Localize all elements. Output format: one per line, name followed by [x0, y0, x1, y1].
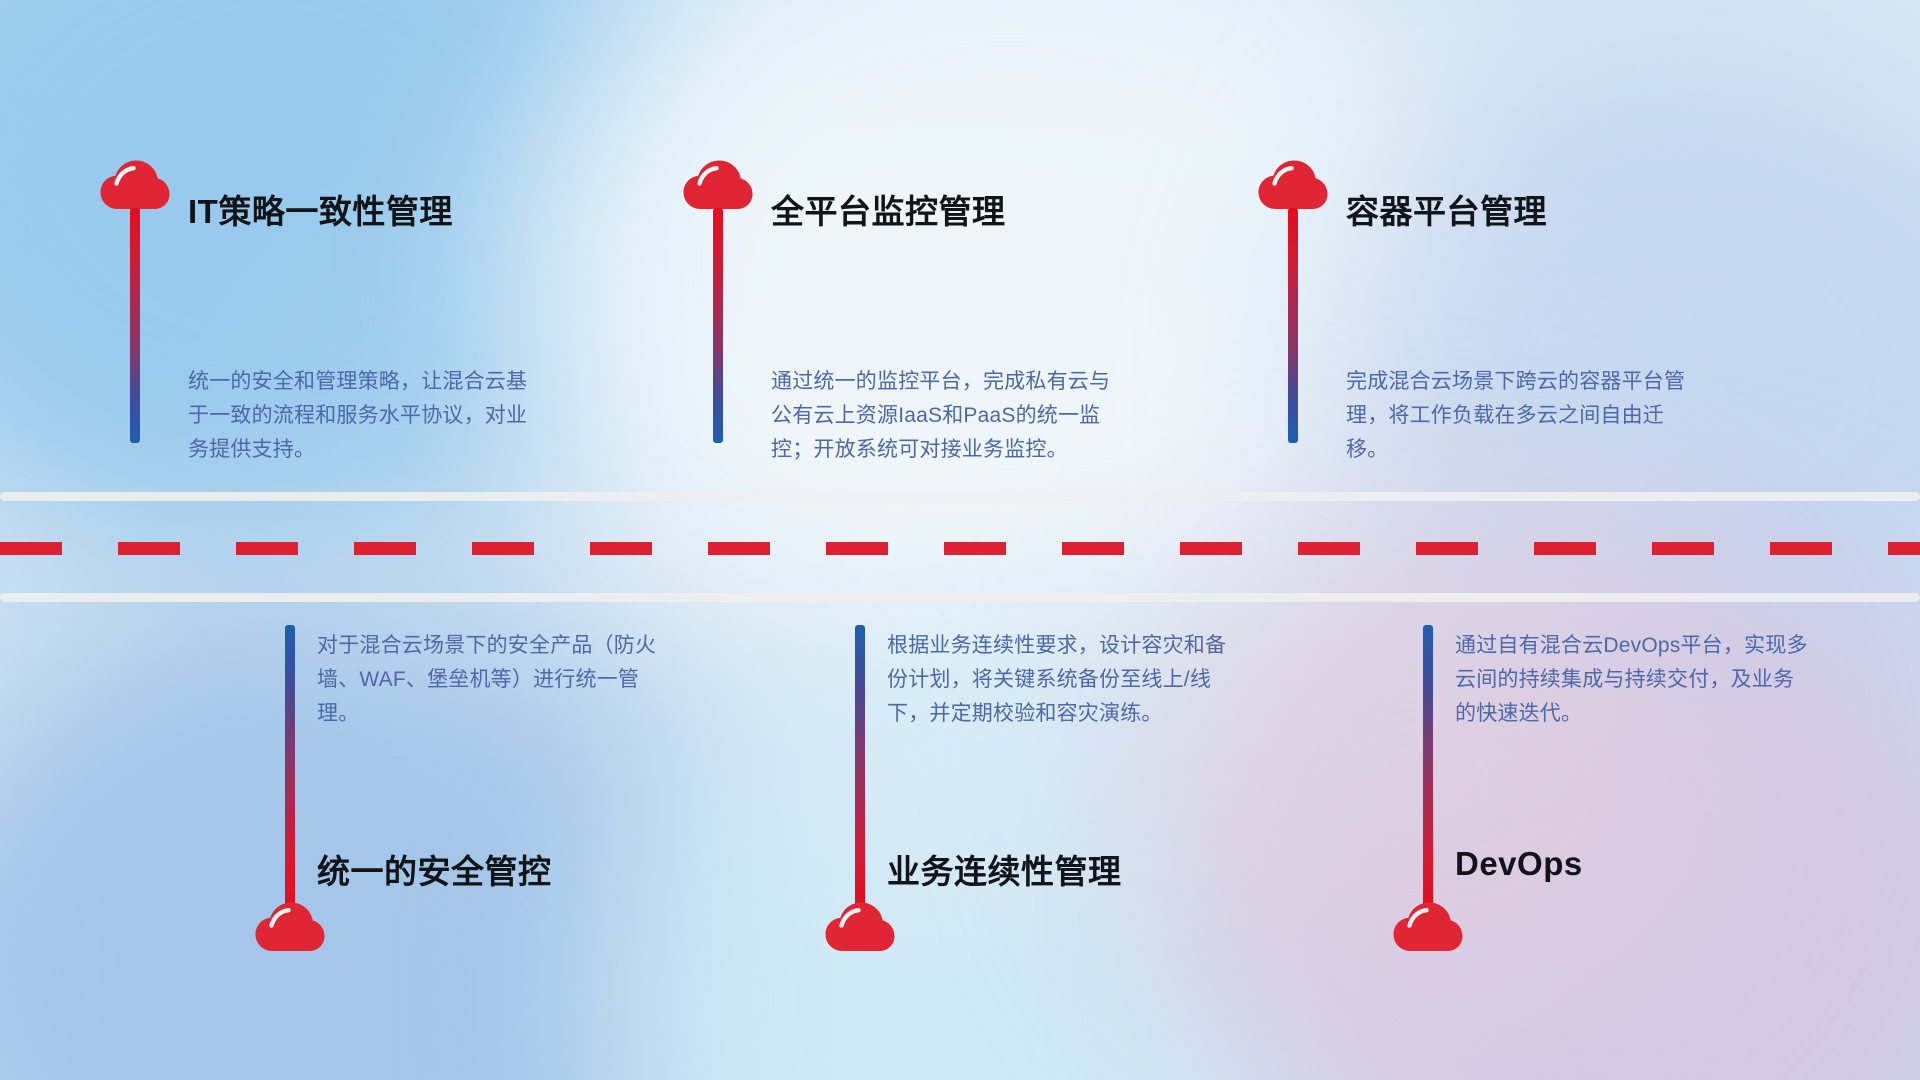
- pin-stem: [1423, 625, 1433, 910]
- card-title: 统一的安全管控: [317, 845, 552, 893]
- card-title: DevOps: [1455, 845, 1583, 883]
- road-center-dashes: [0, 542, 1920, 555]
- road-edge-top: [0, 492, 1920, 501]
- road-divider: [0, 492, 1920, 602]
- cloud-icon: [1258, 160, 1328, 212]
- card-title: 全平台监控管理: [771, 185, 1006, 233]
- cloud-icon: [100, 160, 170, 212]
- card-description: 对于混合云场景下的安全产品（防火墙、WAF、堡垒机等）进行统一管理。: [317, 629, 672, 731]
- cloud-icon: [683, 160, 753, 212]
- road-edge-bottom: [0, 593, 1920, 602]
- pin-stem: [713, 208, 723, 443]
- card-title: 业务连续性管理: [887, 845, 1122, 893]
- card-title: 容器平台管理: [1346, 185, 1547, 233]
- pin-stem: [130, 208, 140, 443]
- card-description: 通过自有混合云DevOps平台，实现多云间的持续集成与持续交付，及业务的快速迭代…: [1455, 629, 1810, 731]
- card-description: 完成混合云场景下跨云的容器平台管理，将工作负载在多云之间自由迁移。: [1346, 365, 1701, 467]
- infographic-canvas: IT策略一致性管理 统一的安全和管理策略，让混合云基于一致的流程和服务水平协议，…: [0, 0, 1920, 1080]
- card-title: IT策略一致性管理: [188, 185, 453, 233]
- card-description: 通过统一的监控平台，完成私有云与公有云上资源IaaS和PaaS的统一监控；开放系…: [771, 365, 1126, 467]
- pin-stem: [1288, 208, 1298, 443]
- pin-stem: [855, 625, 865, 910]
- card-description: 根据业务连续性要求，设计容灾和备份计划，将关键系统备份至线上/线下，并定期校验和…: [887, 629, 1242, 731]
- cloud-icon: [1393, 902, 1463, 954]
- card-description: 统一的安全和管理策略，让混合云基于一致的流程和服务水平协议，对业务提供支持。: [188, 365, 543, 467]
- cloud-icon: [255, 902, 325, 954]
- pin-stem: [285, 625, 295, 910]
- cloud-icon: [825, 902, 895, 954]
